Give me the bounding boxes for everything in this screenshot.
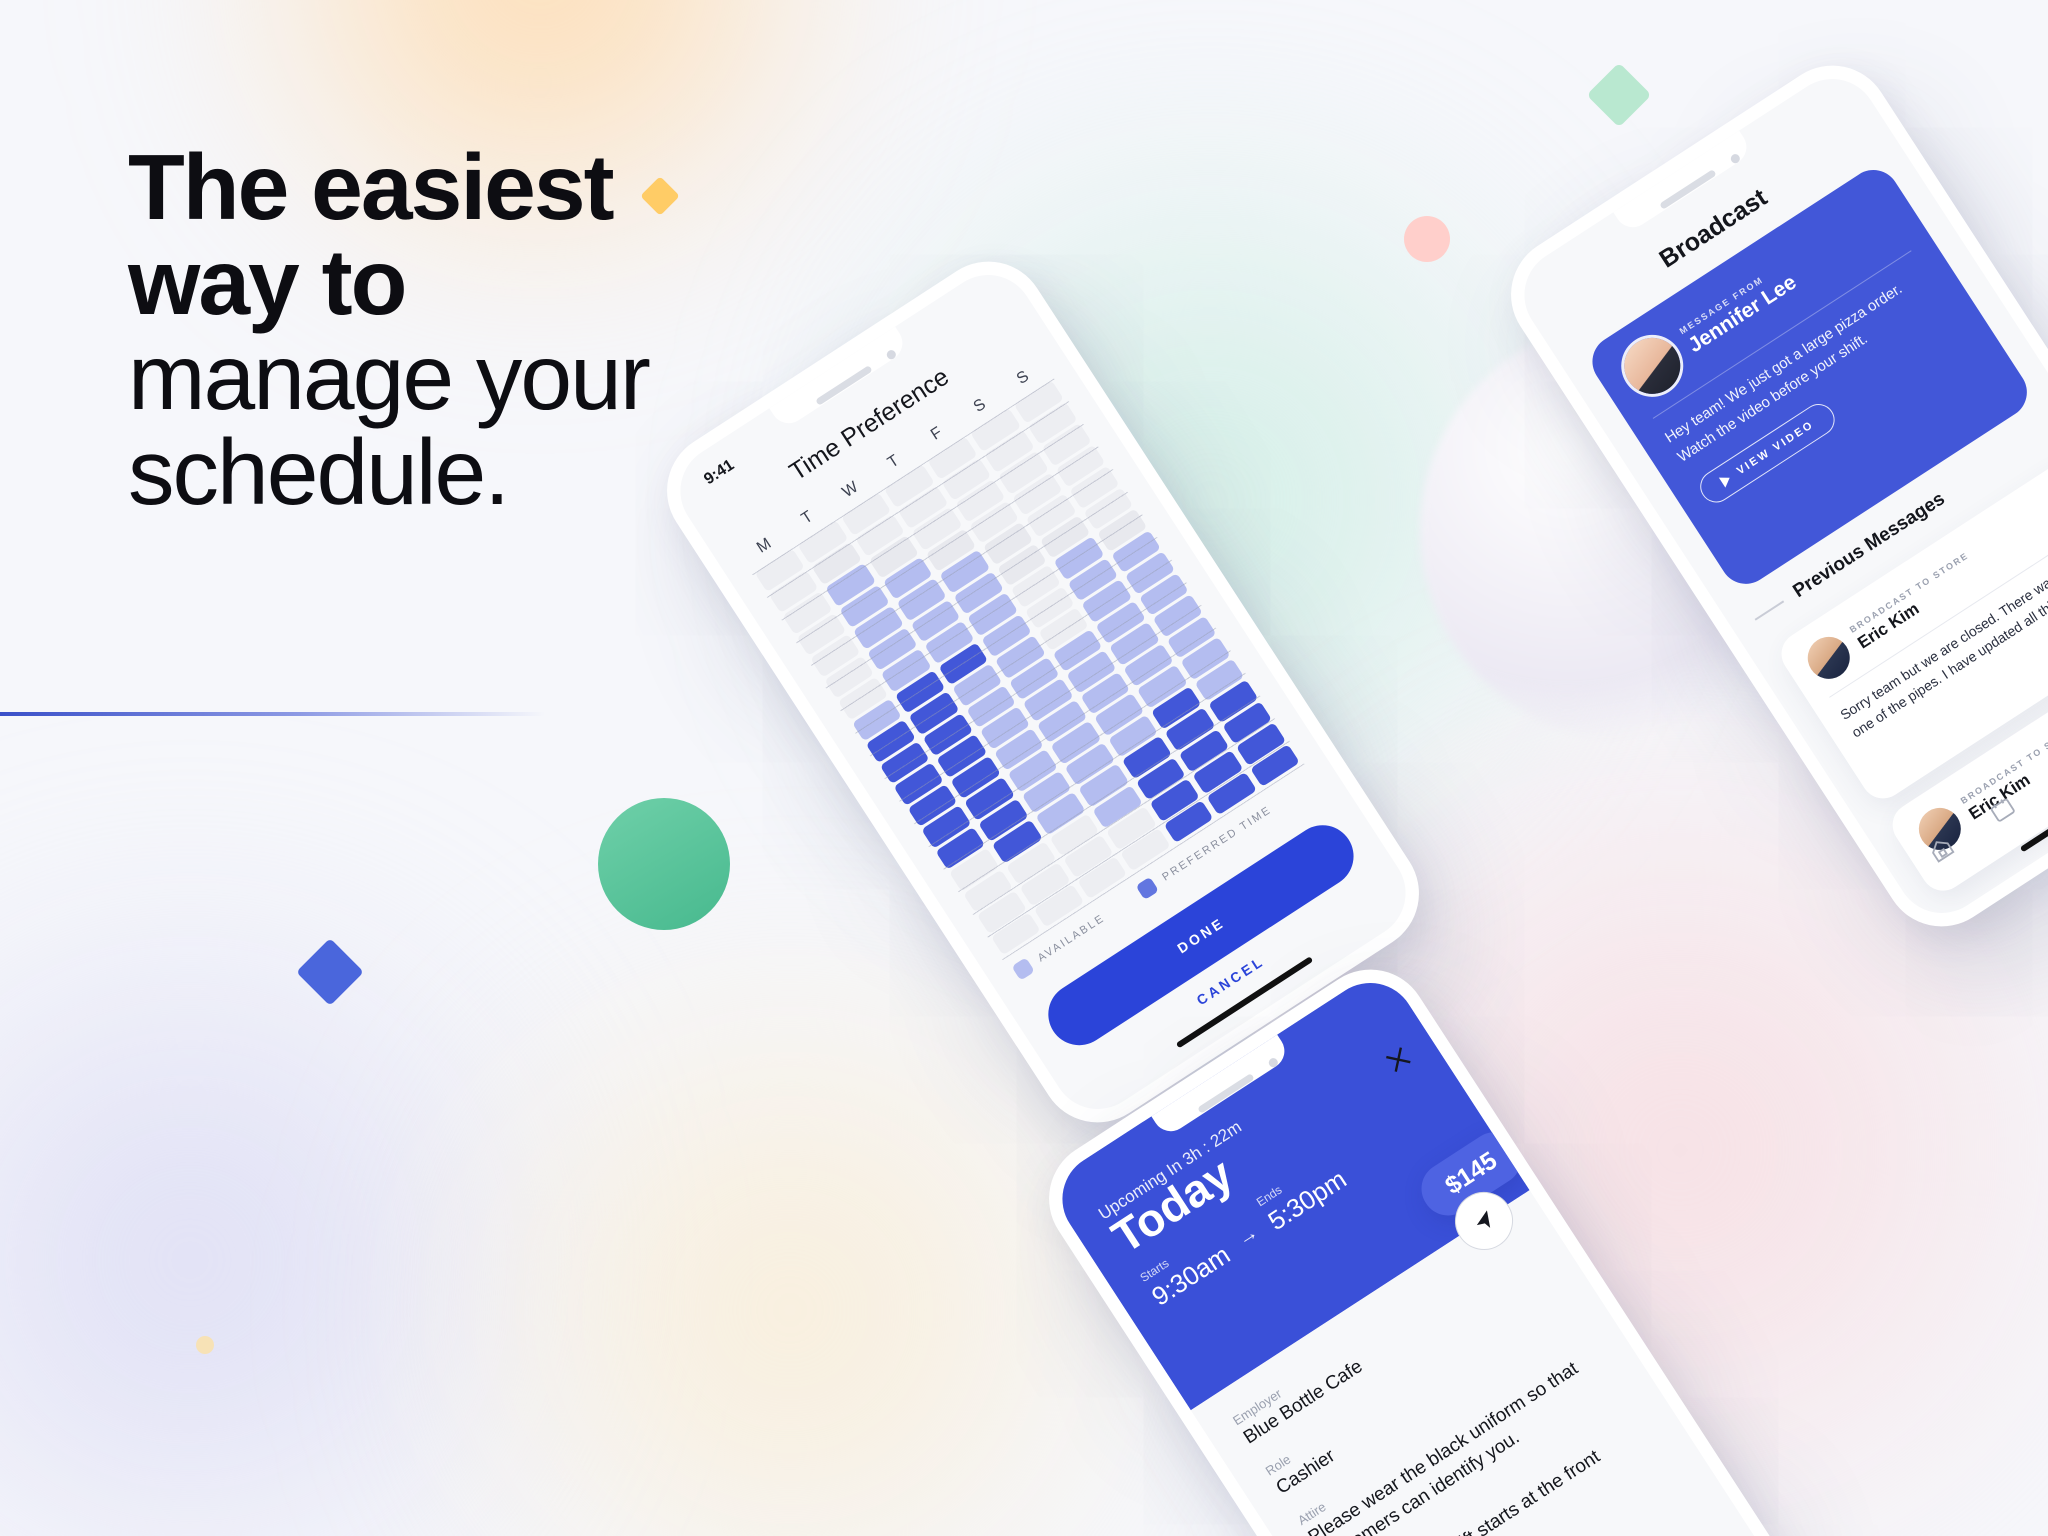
home-icon[interactable] (1923, 832, 1959, 868)
mint-diamond-shape (1586, 62, 1651, 127)
view-video-label: VIEW VIDEO (1735, 419, 1817, 478)
pink-circle-shape (1404, 216, 1450, 262)
play-icon (1719, 473, 1733, 488)
headline-line-2: way to (128, 235, 888, 330)
status-bar-time: 9:41 (701, 457, 738, 490)
phone-broadcast: Broadcast MESSAGE FROM Jennifer Lee Hey … (1489, 43, 2048, 948)
green-circle-shape (598, 798, 730, 930)
headline-line-1: The easiest (128, 140, 888, 235)
divider-dash (1755, 600, 1785, 620)
legend-swatch-preferred (1136, 876, 1160, 900)
screen-broadcast: Broadcast MESSAGE FROM Jennifer Lee Hey … (1507, 61, 2048, 930)
blue-diamond-shape (296, 938, 364, 1006)
calendar-icon[interactable] (1985, 792, 2021, 828)
hero-canvas: The easiest way to manage your schedule.… (0, 0, 2048, 1536)
legend-spacer (1112, 898, 1132, 911)
accent-rule (0, 712, 545, 716)
legend-swatch-available (1011, 957, 1035, 981)
avatar (1800, 629, 1858, 687)
cream-dot-shape (196, 1336, 214, 1354)
avatar (1614, 327, 1691, 404)
screen-time-preference: 9:41 Time Preference MTWTFSS AVAILABLE P… (663, 257, 1423, 1126)
arrow-icon: → (1234, 1222, 1267, 1257)
availability-cells[interactable] (752, 378, 1302, 957)
